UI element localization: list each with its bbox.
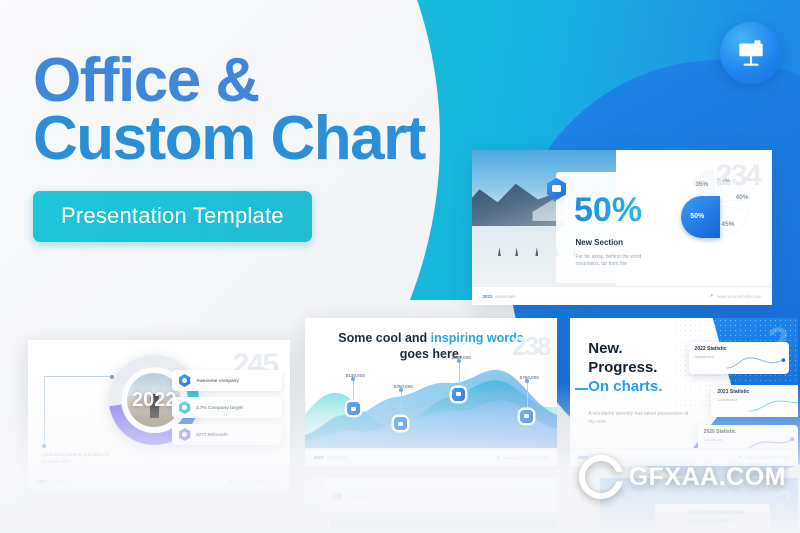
datapoint-value-label: $760,000	[520, 375, 539, 380]
datapoint-marker[interactable]	[520, 410, 533, 423]
area-chart-svg	[305, 357, 557, 449]
photo-tree	[515, 247, 518, 256]
bar-label: Data 2	[661, 519, 684, 524]
datapoint-value-label: $250,000	[394, 384, 413, 389]
footer-year: 2022	[314, 455, 324, 460]
poster-canvas: Office & Custom Chart Presentation Templ…	[0, 0, 800, 533]
datapoint-stem	[353, 380, 354, 404]
arrow-icon: ↗	[229, 479, 233, 485]
heading-line-3: On charts.	[588, 377, 662, 396]
slide-footer: 2022 essentials ↗ www.yourwebsite.com	[305, 448, 557, 466]
footer-sub: essentials	[327, 455, 347, 460]
area-chart: $130,000 $250,000 $425,000 $760,000	[305, 357, 557, 449]
datapoint-marker[interactable]	[394, 417, 407, 430]
site-watermark: GFXAA.COM	[579, 455, 786, 499]
bar-row: Data 1	[661, 509, 764, 514]
slide-number: 03	[333, 492, 342, 501]
bar-row: Data 2	[661, 519, 764, 524]
footer-sub: essentials	[50, 479, 70, 484]
heading-line-1: New.	[588, 339, 662, 358]
legend-item[interactable]: $277.99/month	[172, 424, 282, 445]
hexagon-marker-icon	[178, 428, 191, 441]
slide-sidebar: Presentation	[305, 478, 325, 533]
sidebar-label: Presentation	[313, 508, 318, 530]
white-wedge-shape	[486, 478, 521, 521]
arrow-icon: ↗	[496, 455, 500, 461]
bar-track	[688, 510, 764, 514]
subtitle-badge: Presentation Template	[33, 191, 312, 242]
slide-card-progress[interactable]: 2 New. Progress. On charts. A wonderful …	[570, 318, 798, 466]
stat-card-title: 2022 Statistic	[695, 346, 783, 352]
slide-card-area-chart[interactable]: Some cool and inspiring words goes here.…	[305, 318, 557, 466]
datapoint-stem	[459, 362, 460, 390]
slide-card-pie[interactable]: 50% New Section Far far away, behind the…	[472, 150, 772, 305]
page-title: Office & Custom Chart	[33, 52, 503, 169]
footer-sub: essentials	[496, 294, 516, 299]
datapoint-marker[interactable]	[452, 388, 465, 401]
legend-label: Awesome company	[196, 378, 239, 383]
hexagon-marker-icon	[178, 374, 191, 387]
sparkline-icon	[723, 352, 787, 372]
stat-card-title: 2021 Statistic	[717, 389, 798, 395]
datapoint-value-label: $425,000	[452, 355, 471, 360]
slide-body-text: A wonderful serenity has taken possessio…	[588, 410, 688, 426]
pie-label-35: 35%	[695, 181, 708, 188]
presentation-board-icon	[734, 36, 768, 70]
gfxaa-logo-icon	[579, 455, 623, 499]
slide-number-dash	[348, 497, 371, 499]
heading-line-2: Progress.	[588, 358, 662, 377]
sparkline-icon	[745, 395, 798, 415]
arrow-icon: ↗	[709, 293, 713, 299]
section-body: Far far away, behind the word mountains,…	[576, 254, 660, 269]
bar-chart: Data 1 Data 2 Data 3 Data 4	[655, 504, 770, 533]
pie-label-50: 50%	[690, 213, 704, 220]
pie-label-40: 40%	[736, 194, 749, 201]
quote-banner: 251 A wonderful serenity has taken posse…	[330, 521, 557, 533]
photo-tree	[498, 247, 501, 256]
title-line-1: Office &	[33, 52, 503, 110]
bar-row: Data 3	[661, 528, 764, 533]
legend-label: 2.7% Company target	[196, 405, 243, 410]
legend-item[interactable]: Awesome company	[172, 370, 282, 391]
hero-block: Office & Custom Chart Presentation Templ…	[33, 52, 503, 242]
legend-item[interactable]: 2.7% Company target	[172, 397, 282, 418]
stat-card-title: 2020 Statistic	[704, 429, 792, 435]
bar-label: Data 3	[661, 528, 684, 533]
keynote-presentation-icon	[720, 22, 782, 84]
accent-rule	[575, 388, 589, 390]
datapoint-stem	[401, 391, 402, 419]
slide-title-part-1: Some cool and	[338, 331, 430, 345]
footer-link: www.yourwebsite.com	[236, 479, 281, 484]
datapoint-value-label: $130,000	[346, 373, 365, 378]
section-title: New Section	[576, 238, 624, 247]
slide-footer: 2022 essentials ↗ www.yourwebsite.com	[28, 472, 290, 490]
bar-track	[688, 519, 764, 523]
footer-year: 2022	[483, 294, 493, 299]
callout-text: A wonderful serenity has taken of my ent…	[41, 451, 109, 466]
callout-connector	[44, 376, 112, 445]
slide-footer: 2022 essentials ↗ www.yourwebsite.com	[472, 286, 772, 305]
photo-tree	[535, 247, 538, 256]
pie-label-45: 45%	[721, 221, 734, 228]
title-line-2: Custom Chart	[33, 110, 503, 168]
stat-card[interactable]: 2021 Statistic Dashboard	[711, 385, 798, 418]
slide-card-quote[interactable]: Presentation 03 251 A wonderful serenity…	[305, 478, 557, 533]
slide-headings: New. Progress. On charts.	[588, 339, 662, 397]
footer-year: 2022	[37, 479, 47, 484]
datapoint-stem	[527, 382, 528, 411]
footer-link: www.yourwebsite.com	[504, 455, 549, 460]
datapoint-marker[interactable]	[347, 402, 360, 415]
slide-watermark-number: 234	[716, 159, 760, 193]
footer-link: www.yourwebsite.com	[717, 294, 762, 299]
stat-card[interactable]: 2022 Statistic Dashboard	[689, 342, 789, 375]
bar-label: Data 1	[661, 509, 684, 514]
hexagon-marker-icon	[178, 401, 191, 414]
bar-fill	[688, 529, 738, 533]
slide-card-donut[interactable]: 245 A wonderful serenity has taken of my…	[28, 340, 290, 490]
slide-title-accent: inspiring words	[431, 331, 524, 345]
bar-track	[688, 529, 764, 533]
bar-fill	[688, 519, 732, 523]
big-percent-value: 50%	[574, 193, 642, 227]
gfxaa-wordmark: GFXAA.COM	[629, 463, 786, 492]
donut-legend: Awesome company 2.7% Company target $277…	[172, 370, 282, 451]
bar-fill	[688, 510, 744, 514]
legend-label: $277.99/month	[196, 432, 228, 437]
